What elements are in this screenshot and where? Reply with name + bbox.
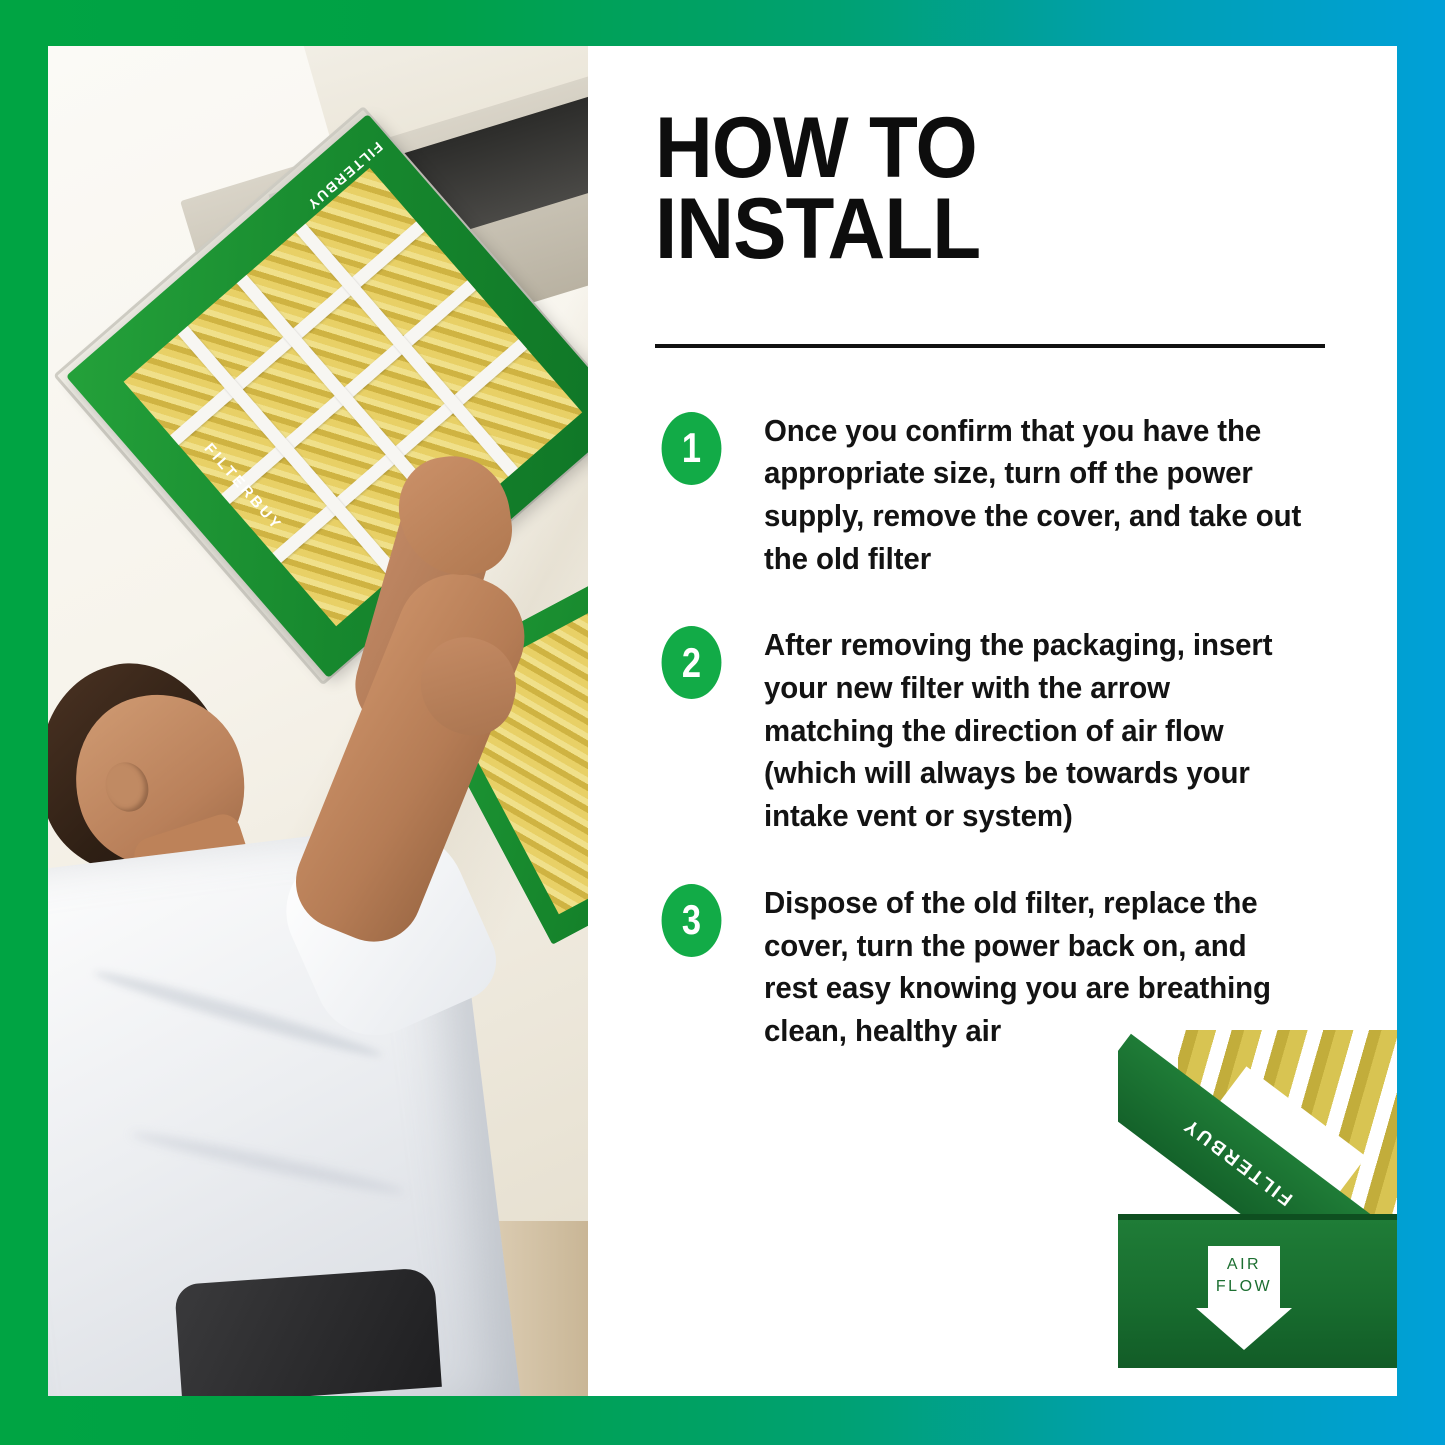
step-3-badge-wrap: 3 xyxy=(655,882,728,955)
arrow-head xyxy=(1196,1308,1292,1350)
step-3-text: Dispose of the old filter, replace the c… xyxy=(764,882,1307,1053)
title-divider-rule xyxy=(655,344,1325,348)
air-flow-label: AIR FLOW xyxy=(1196,1254,1292,1297)
steps-list: 1 Once you confirm that you have the app… xyxy=(655,410,1327,1053)
step-1-badge-wrap: 1 xyxy=(655,410,728,483)
step-item-3: 3 Dispose of the old filter, replace the… xyxy=(655,882,1327,1053)
step-item-2: 2 After removing the packaging, insert y… xyxy=(655,624,1327,837)
step-2-text: After removing the packaging, insert you… xyxy=(764,624,1307,837)
step-2-number-badge: 2 xyxy=(662,626,722,699)
person-raised-arm xyxy=(281,556,542,956)
step-2-badge-wrap: 2 xyxy=(655,624,728,697)
page-title: HOW TO INSTALL xyxy=(655,46,1280,270)
air-flow-arrow-icon: AIR FLOW xyxy=(1196,1246,1292,1346)
person-pants xyxy=(174,1267,442,1396)
installation-photo: FILTERBUY FILTERBUY xyxy=(48,46,588,1396)
how-to-install-infographic: FILTERBUY FILTERBUY HOW TO IN xyxy=(0,0,1445,1445)
product-filter-graphic: FILTERBUY AIR FLOW xyxy=(1118,1030,1397,1396)
step-1-text: Once you confirm that you have the appro… xyxy=(764,410,1307,581)
product-body: FILTERBUY AIR FLOW xyxy=(1118,1030,1397,1396)
step-item-1: 1 Once you confirm that you have the app… xyxy=(655,410,1327,581)
step-1-number-badge: 1 xyxy=(662,412,722,485)
step-3-number-badge: 3 xyxy=(662,884,722,957)
person-installing-filter xyxy=(48,46,588,1396)
